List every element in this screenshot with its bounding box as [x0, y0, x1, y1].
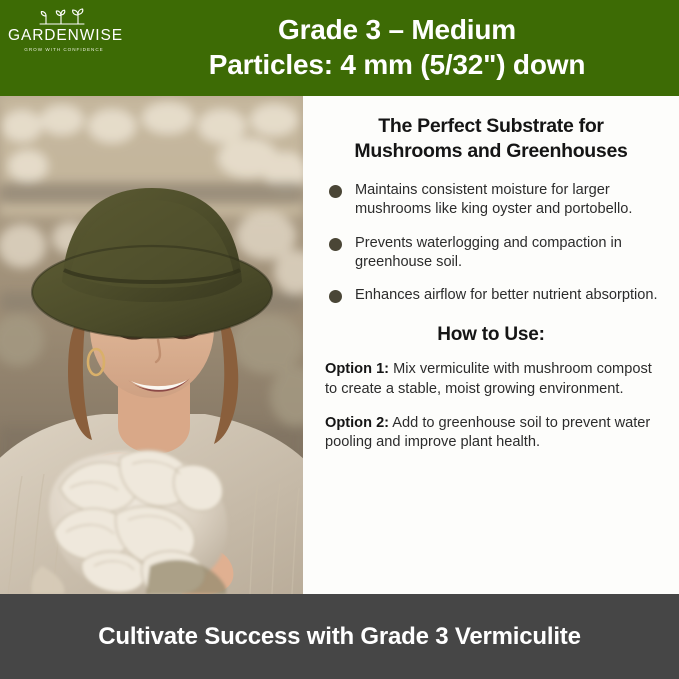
content-panel: The Perfect Substrate for Mushrooms and …	[303, 96, 679, 594]
benefit-text: Prevents waterlogging and compaction in …	[355, 235, 622, 270]
benefit-item: Maintains consistent moisture for larger…	[325, 181, 661, 220]
header-title-line2: Particles: 4 mm (5/32") down	[124, 47, 670, 82]
footer-tagline: Cultivate Success with Grade 3 Vermiculi…	[98, 623, 580, 651]
bullet-dot-icon	[329, 238, 342, 251]
brand-wordmark: GARDENWISE	[8, 28, 120, 44]
header-title: Grade 3 – Medium Particles: 4 mm (5/32")…	[124, 12, 670, 83]
option-label: Option 2:	[325, 415, 389, 431]
option-item: Option 1: Mix vermiculite with mushroom …	[317, 360, 665, 399]
photo-illustration	[0, 96, 303, 594]
panel-heading-line2: Mushrooms and Greenhouses	[317, 139, 665, 164]
benefit-item: Prevents waterlogging and compaction in …	[325, 234, 661, 273]
brand-tagline: GROW WITH CONFIDENCE	[8, 47, 120, 52]
benefit-text: Maintains consistent moisture for larger…	[355, 182, 632, 217]
option-item: Option 2: Add to greenhouse soil to prev…	[317, 414, 665, 453]
panel-heading: The Perfect Substrate for Mushrooms and …	[317, 114, 665, 165]
how-to-use-heading: How to Use:	[317, 324, 665, 346]
bullet-dot-icon	[329, 290, 342, 303]
three-sprouts-icon	[34, 6, 94, 26]
option-label: Option 1:	[325, 361, 389, 377]
product-lifestyle-photo	[0, 96, 303, 594]
product-infographic: GARDENWISE GROW WITH CONFIDENCE Grade 3 …	[0, 0, 679, 679]
benefits-list: Maintains consistent moisture for larger…	[317, 181, 665, 306]
benefit-text: Enhances airflow for better nutrient abs…	[355, 287, 658, 303]
benefit-item: Enhances airflow for better nutrient abs…	[325, 286, 661, 305]
header-title-line1: Grade 3 – Medium	[278, 14, 516, 45]
panel-heading-line1: The Perfect Substrate for	[378, 115, 603, 137]
footer-banner: Cultivate Success with Grade 3 Vermiculi…	[0, 594, 679, 679]
bullet-dot-icon	[329, 185, 342, 198]
brand-logo: GARDENWISE GROW WITH CONFIDENCE	[8, 6, 120, 52]
header-banner: GARDENWISE GROW WITH CONFIDENCE Grade 3 …	[0, 0, 679, 96]
